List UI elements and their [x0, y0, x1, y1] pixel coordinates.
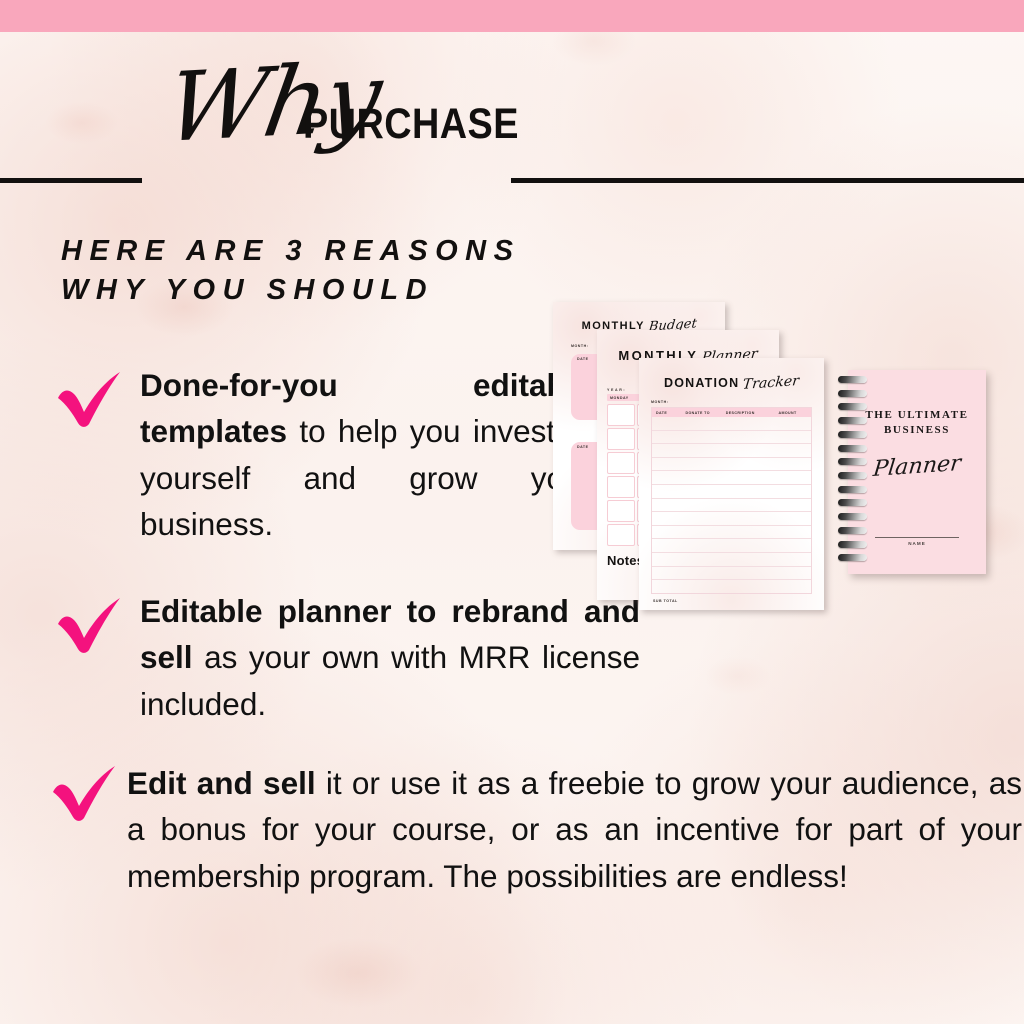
donation-row[interactable] — [652, 512, 811, 526]
benefit-text-2: Editable planner to rebrand and sell as … — [140, 588, 640, 727]
donation-row[interactable] — [652, 526, 811, 540]
donation-table: DATE DONATE TO DESCRIPTION AMOUNT — [651, 407, 812, 594]
calendar-cell[interactable] — [607, 476, 635, 498]
calendar-cell[interactable] — [607, 500, 635, 522]
calendar-cell[interactable] — [607, 524, 635, 546]
spiral-ring — [838, 376, 867, 383]
benefit-rest-2: as your own with MRR license included. — [140, 639, 640, 721]
mockup-business-planner-book: THE ULTIMATE BUSINESS Planner NAME — [838, 370, 986, 574]
spiral-ring — [838, 417, 867, 424]
donation-row[interactable] — [652, 553, 811, 567]
donation-table-header: DATE DONATE TO DESCRIPTION AMOUNT — [652, 408, 811, 417]
planner-month-select[interactable]: MONDAY — [610, 396, 629, 400]
donation-row[interactable] — [652, 444, 811, 458]
spiral-ring — [838, 554, 867, 561]
donation-col-0: DATE — [652, 411, 685, 415]
donation-subtotal-label: SUB TOTAL — [653, 599, 820, 603]
donation-row[interactable] — [652, 499, 811, 513]
spiral-ring — [838, 403, 867, 410]
spiral-ring — [838, 513, 867, 520]
header-bold-word: PURCHASE — [303, 100, 519, 149]
check-icon — [52, 368, 126, 430]
calendar-cell[interactable] — [607, 452, 635, 474]
spiral-ring — [838, 458, 867, 465]
section-subtitle: HERE ARE 3 REASONS WHY YOU SHOULD — [61, 232, 681, 310]
spiral-ring — [838, 527, 867, 534]
donation-row[interactable] — [652, 471, 811, 485]
book-title-line-2: BUSINESS — [848, 423, 986, 438]
mockup-donation-tracker: DONATION Tracker MONTH: DATE DONATE TO D… — [639, 358, 824, 610]
donation-title-script: Tracker — [742, 373, 800, 393]
spiral-ring — [838, 541, 867, 548]
book-title-line-1: THE ULTIMATE — [848, 408, 986, 423]
book-cover: THE ULTIMATE BUSINESS Planner NAME — [848, 370, 986, 574]
calendar-cell[interactable] — [607, 428, 635, 450]
donation-col-2: DESCRIPTION — [726, 411, 779, 415]
spiral-ring — [838, 486, 867, 493]
check-icon — [47, 762, 121, 824]
top-accent-bar — [0, 0, 1024, 32]
spiral-ring — [838, 431, 867, 438]
benefit-text-3: Edit and sell it or use it as a freebie … — [127, 760, 1022, 899]
benefit-text-1: Done-for-you editable templates to help … — [140, 362, 592, 547]
donation-row[interactable] — [652, 580, 811, 593]
donation-row[interactable] — [652, 567, 811, 581]
spiral-ring — [838, 472, 867, 479]
donation-month-label: MONTH: — [651, 400, 820, 404]
donation-col-3: AMOUNT — [778, 411, 811, 415]
donation-row[interactable] — [652, 485, 811, 499]
header-rule-left — [0, 178, 142, 183]
donation-col-1: DONATE TO — [685, 411, 725, 415]
donation-row[interactable] — [652, 431, 811, 445]
book-name-line — [875, 537, 959, 538]
donation-row[interactable] — [652, 539, 811, 553]
book-name-label: NAME — [848, 541, 986, 546]
check-icon — [52, 594, 126, 656]
donation-row[interactable] — [652, 458, 811, 472]
poster-canvas: Why PURCHASE HERE ARE 3 REASONS WHY YOU … — [0, 0, 1024, 1024]
calendar-cell[interactable] — [607, 404, 635, 426]
spiral-ring — [838, 390, 867, 397]
spiral-ring — [838, 499, 867, 506]
spiral-ring — [838, 445, 867, 452]
spiral-binding — [838, 376, 868, 568]
budget-b2-col-0: DATE — [577, 445, 589, 449]
header: Why PURCHASE — [0, 62, 1024, 172]
header-rule-right — [511, 178, 1024, 183]
budget-b1-col-0: DATE — [577, 357, 589, 361]
donation-title-strong: DONATION — [664, 376, 739, 390]
donation-row[interactable] — [652, 417, 811, 431]
benefit-bold-3: Edit and sell — [127, 765, 316, 801]
